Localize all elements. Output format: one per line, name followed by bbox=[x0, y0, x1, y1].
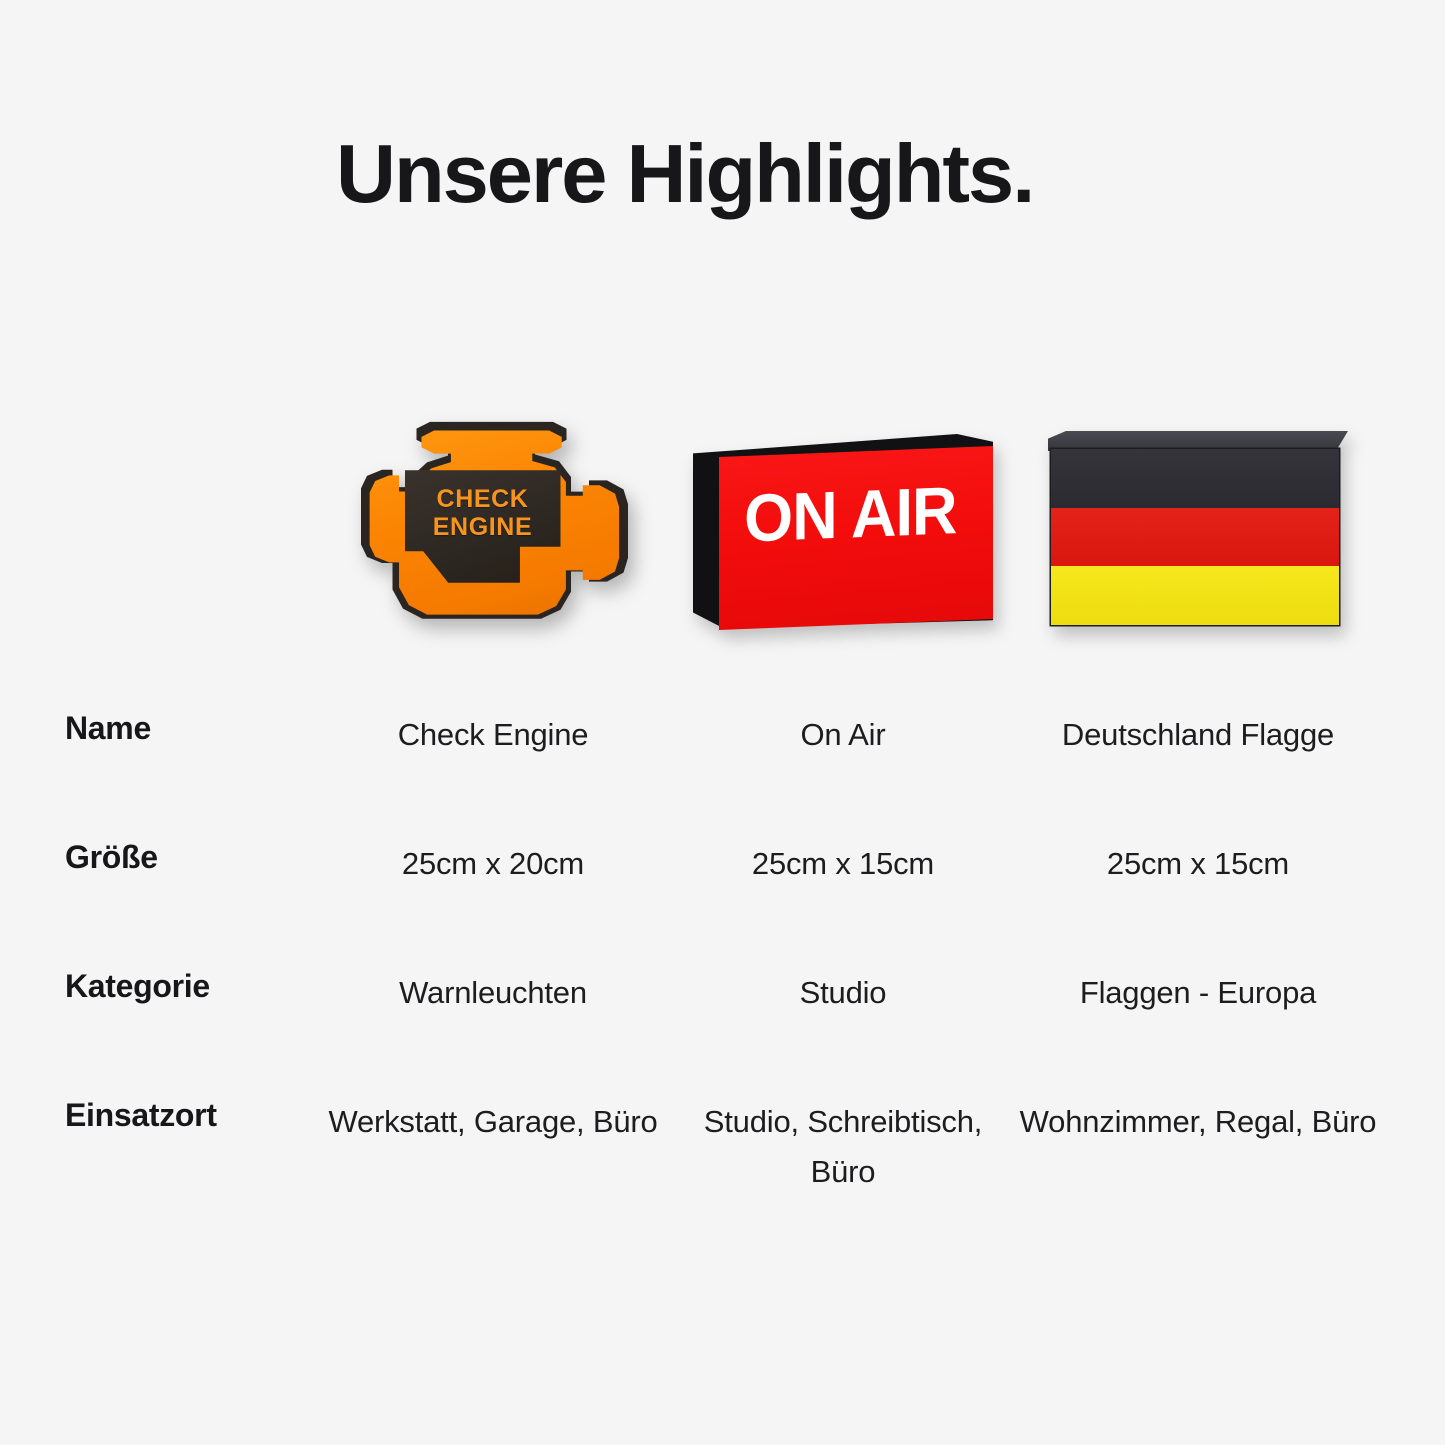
cell-einsatzort-on-air: Studio, Schreibtisch, Büro bbox=[668, 1075, 1018, 1197]
cell-einsatzort-deutschland-flagge: Wohnzimmer, Regal, Büro bbox=[1018, 1075, 1378, 1147]
product-image-row: CHECK ENGINE ON AIR bbox=[0, 406, 1445, 656]
check-engine-label: CHECK ENGINE bbox=[406, 485, 559, 541]
flag-lamp-top-edge bbox=[1048, 431, 1348, 451]
cell-kategorie-deutschland-flagge: Flaggen - Europa bbox=[1018, 946, 1378, 1018]
table-row: Name Check Engine On Air Deutschland Fla… bbox=[0, 688, 1445, 817]
spec-comparison-table: Name Check Engine On Air Deutschland Fla… bbox=[0, 688, 1445, 1250]
check-engine-lamp-graphic: CHECK ENGINE bbox=[343, 419, 643, 644]
table-row: Größe 25cm x 20cm 25cm x 15cm 25cm x 15c… bbox=[0, 817, 1445, 946]
flag-lamp-front-panel bbox=[1051, 449, 1339, 625]
highlights-page: Unsere Highlights. CHECK ENGINE ON AIR bbox=[0, 0, 1445, 1445]
on-air-lightbox-graphic: ON AIR bbox=[693, 426, 993, 636]
row-label-kategorie: Kategorie bbox=[0, 946, 318, 1005]
cell-name-on-air: On Air bbox=[668, 688, 1018, 760]
cell-groesse-deutschland-flagge: 25cm x 15cm bbox=[1018, 817, 1378, 889]
on-air-label: ON AIR bbox=[731, 477, 970, 553]
germany-flag-lightbox-graphic bbox=[1048, 431, 1348, 631]
row-label-groesse: Größe bbox=[0, 817, 318, 876]
table-row: Einsatzort Werkstatt, Garage, Büro Studi… bbox=[0, 1075, 1445, 1250]
cell-groesse-on-air: 25cm x 15cm bbox=[668, 817, 1018, 889]
cell-kategorie-check-engine: Warnleuchten bbox=[318, 946, 668, 1018]
row-label-name: Name bbox=[0, 688, 318, 747]
cell-name-deutschland-flagge: Deutschland Flagge bbox=[1018, 688, 1378, 760]
table-row: Kategorie Warnleuchten Studio Flaggen - … bbox=[0, 946, 1445, 1075]
cell-name-check-engine: Check Engine bbox=[318, 688, 668, 760]
cell-groesse-check-engine: 25cm x 20cm bbox=[318, 817, 668, 889]
cell-kategorie-on-air: Studio bbox=[668, 946, 1018, 1018]
flag-band-yellow bbox=[1051, 566, 1339, 625]
check-engine-label-line-2: ENGINE bbox=[406, 513, 559, 541]
page-title: Unsere Highlights. bbox=[336, 128, 1033, 219]
cell-einsatzort-check-engine: Werkstatt, Garage, Büro bbox=[318, 1075, 668, 1147]
product-image-check-engine[interactable]: CHECK ENGINE bbox=[318, 406, 668, 656]
check-engine-label-line-1: CHECK bbox=[406, 485, 559, 513]
row-label-einsatzort: Einsatzort bbox=[0, 1075, 318, 1134]
flag-band-black bbox=[1051, 449, 1339, 508]
product-image-on-air[interactable]: ON AIR bbox=[668, 406, 1018, 656]
flag-band-red bbox=[1051, 508, 1339, 567]
product-image-deutschland-flagge[interactable] bbox=[1018, 406, 1378, 656]
